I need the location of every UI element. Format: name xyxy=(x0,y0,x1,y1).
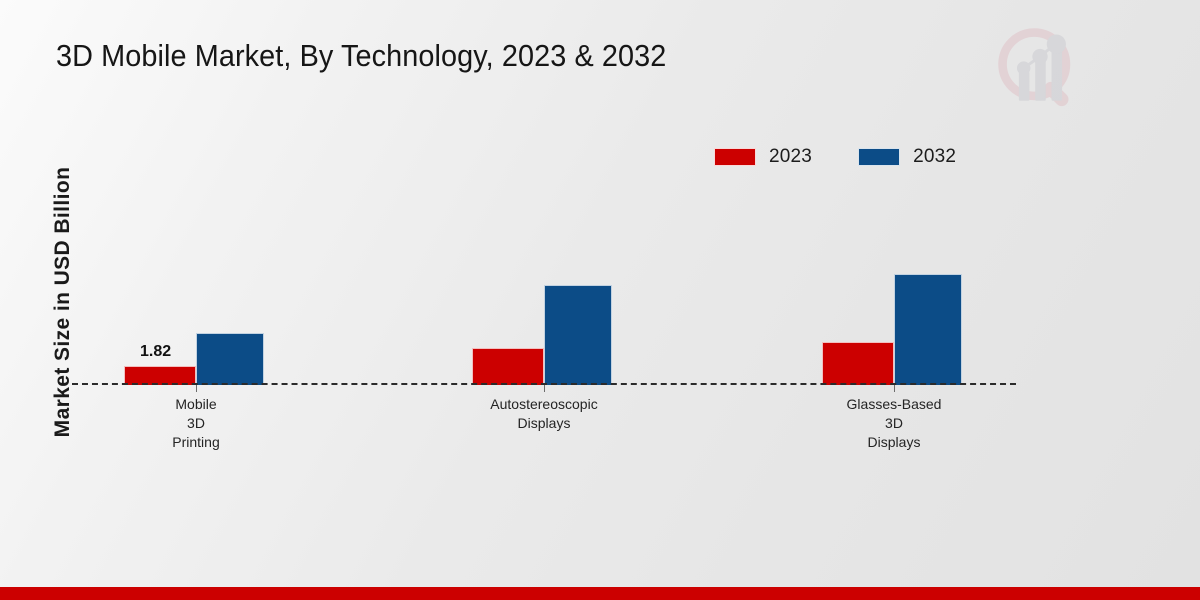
legend-label-2032: 2032 xyxy=(913,146,956,168)
category-label-line: Displays xyxy=(804,433,984,452)
bar-2032-autostereoscopic-displays[interactable] xyxy=(544,285,612,385)
category-tick-2 xyxy=(544,385,545,392)
legend-label-2023: 2023 xyxy=(769,146,812,168)
bar-2023-glasses-based-3d-displays[interactable] xyxy=(822,342,894,385)
chart-title: 3D Mobile Market, By Technology, 2023 & … xyxy=(56,38,666,74)
category-label-line: Displays xyxy=(444,414,644,433)
category-label-autostereoscopic-displays: Autostereoscopic Displays xyxy=(444,395,644,433)
legend-item-2032[interactable]: 2032 xyxy=(858,146,956,168)
category-label-line: Glasses-Based xyxy=(804,395,984,414)
category-tick-3 xyxy=(894,385,895,392)
chart-legend: 2023 2032 xyxy=(714,146,956,168)
legend-item-2023[interactable]: 2023 xyxy=(714,146,812,168)
category-label-mobile-3d-printing: Mobile 3D Printing xyxy=(116,395,276,452)
chart-canvas: 3D Mobile Market, By Technology, 2023 & … xyxy=(0,0,1200,600)
bar-2023-autostereoscopic-displays[interactable] xyxy=(472,348,544,385)
bottom-accent-bar xyxy=(0,587,1200,600)
category-tick-1 xyxy=(196,385,197,392)
category-axis: Mobile 3D Printing Autostereoscopic Disp… xyxy=(72,385,1016,475)
legend-swatch-2032 xyxy=(858,148,900,166)
plot-area: 1.82 xyxy=(72,180,1016,385)
bar-2032-mobile-3d-printing[interactable] xyxy=(196,333,264,385)
category-label-line: 3D xyxy=(804,414,984,433)
category-label-line: Autostereoscopic xyxy=(444,395,644,414)
category-label-glasses-based-3d-displays: Glasses-Based 3D Displays xyxy=(804,395,984,452)
bar-value-label-1-82: 1.82 xyxy=(140,343,171,361)
category-label-line: Printing xyxy=(116,433,276,452)
watermark-logo-icon xyxy=(992,22,1088,118)
legend-swatch-2023 xyxy=(714,148,756,166)
bar-2032-glasses-based-3d-displays[interactable] xyxy=(894,274,962,385)
category-label-line: Mobile xyxy=(116,395,276,414)
category-label-line: 3D xyxy=(116,414,276,433)
